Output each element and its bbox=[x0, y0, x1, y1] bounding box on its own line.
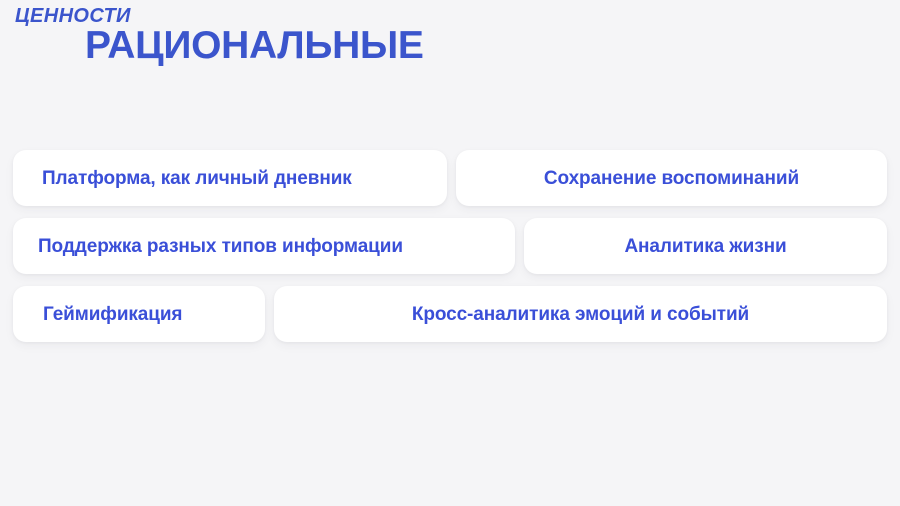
value-card-gamification[interactable]: Геймификация bbox=[13, 286, 265, 342]
slide-header: ЦЕННОСТИ РАЦИОНАЛЬНЫЕ bbox=[13, 6, 873, 76]
card-row: Поддержка разных типов информации Аналит… bbox=[13, 218, 887, 274]
slide-root: ЦЕННОСТИ РАЦИОНАЛЬНЫЕ Платформа, как лич… bbox=[0, 0, 900, 506]
value-card-life-analytics[interactable]: Аналитика жизни bbox=[524, 218, 887, 274]
value-card-label: Поддержка разных типов информации bbox=[38, 237, 403, 256]
value-card-label: Кросс-аналитика эмоций и событий bbox=[412, 305, 749, 324]
card-row: Платформа, как личный дневник Сохранение… bbox=[13, 150, 887, 206]
value-card-information-types[interactable]: Поддержка разных типов информации bbox=[13, 218, 515, 274]
value-card-label: Геймификация bbox=[43, 305, 182, 324]
header-eyebrow: ЦЕННОСТИ bbox=[15, 6, 131, 26]
value-card-cross-analytics[interactable]: Кросс-аналитика эмоций и событий bbox=[274, 286, 887, 342]
value-card-label: Сохранение воспоминаний bbox=[544, 169, 799, 188]
page-title: РАЦИОНАЛЬНЫЕ bbox=[85, 26, 424, 65]
card-row: Геймификация Кросс-аналитика эмоций и со… bbox=[13, 286, 887, 342]
value-card-label: Аналитика жизни bbox=[624, 237, 786, 256]
value-card-grid: Платформа, как личный дневник Сохранение… bbox=[13, 150, 887, 342]
value-card-memory-saving[interactable]: Сохранение воспоминаний bbox=[456, 150, 887, 206]
value-card-label: Платформа, как личный дневник bbox=[42, 169, 352, 188]
value-card-platform-diary[interactable]: Платформа, как личный дневник bbox=[13, 150, 447, 206]
